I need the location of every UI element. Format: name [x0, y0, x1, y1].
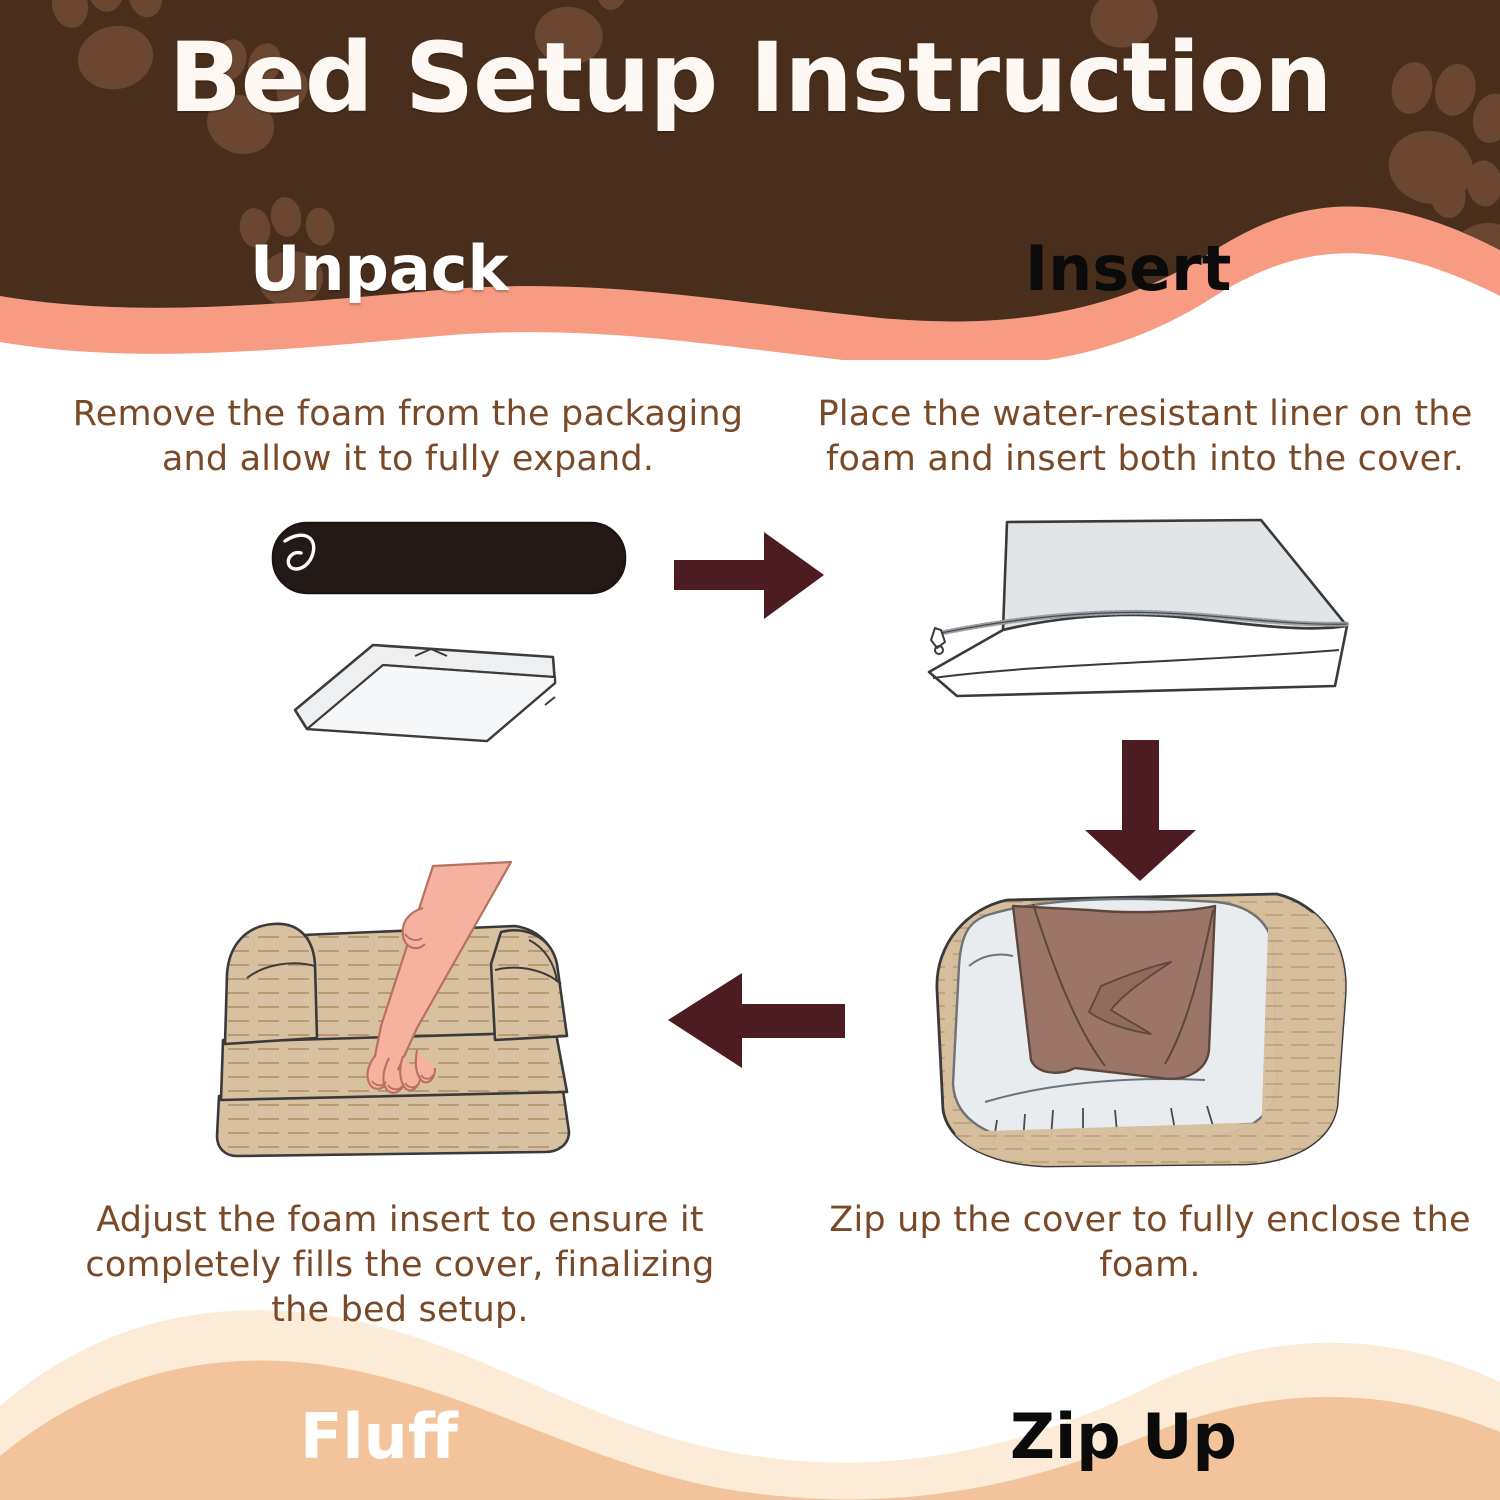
- arrow-left-icon: [662, 968, 847, 1073]
- footer-banner: [0, 1310, 1500, 1500]
- step-label-zipup: Zip Up: [1010, 1400, 1237, 1473]
- cover-zipup-illustration: [925, 870, 1365, 1190]
- step-label-fluff: Fluff: [300, 1400, 458, 1473]
- bed-bolster-right: [491, 930, 567, 1040]
- caption-zipup: Zip up the cover to fully enclose the fo…: [820, 1198, 1480, 1288]
- step-label-unpack: Unpack: [250, 232, 509, 305]
- cover-side-face: [929, 615, 1347, 696]
- step-label-insert: Insert: [1025, 232, 1231, 305]
- instruction-poster: Bed Setup Instruction Unpack Insert Remo…: [0, 0, 1500, 1500]
- foam-roll-icon: [273, 523, 625, 593]
- footer-wave-shape: [0, 1310, 1500, 1500]
- caption-insert: Place the water-resistant liner on the f…: [800, 392, 1490, 482]
- arrow-down-icon: [1078, 738, 1203, 883]
- brown-liner-insert: [1013, 904, 1215, 1079]
- folded-liner-icon: [295, 645, 555, 741]
- caption-fluff: Adjust the foam insert to ensure it comp…: [55, 1198, 745, 1332]
- bed-bolster-left: [225, 924, 317, 1044]
- rolled-foam-illustration: [255, 505, 655, 755]
- zippered-cover-illustration: [895, 500, 1355, 735]
- arrow-right-icon: [672, 528, 827, 623]
- hand-fluffing-bed-illustration: [195, 860, 625, 1180]
- page-title: Bed Setup Instruction: [0, 22, 1500, 134]
- caption-unpack: Remove the foam from the packaging and a…: [58, 392, 758, 482]
